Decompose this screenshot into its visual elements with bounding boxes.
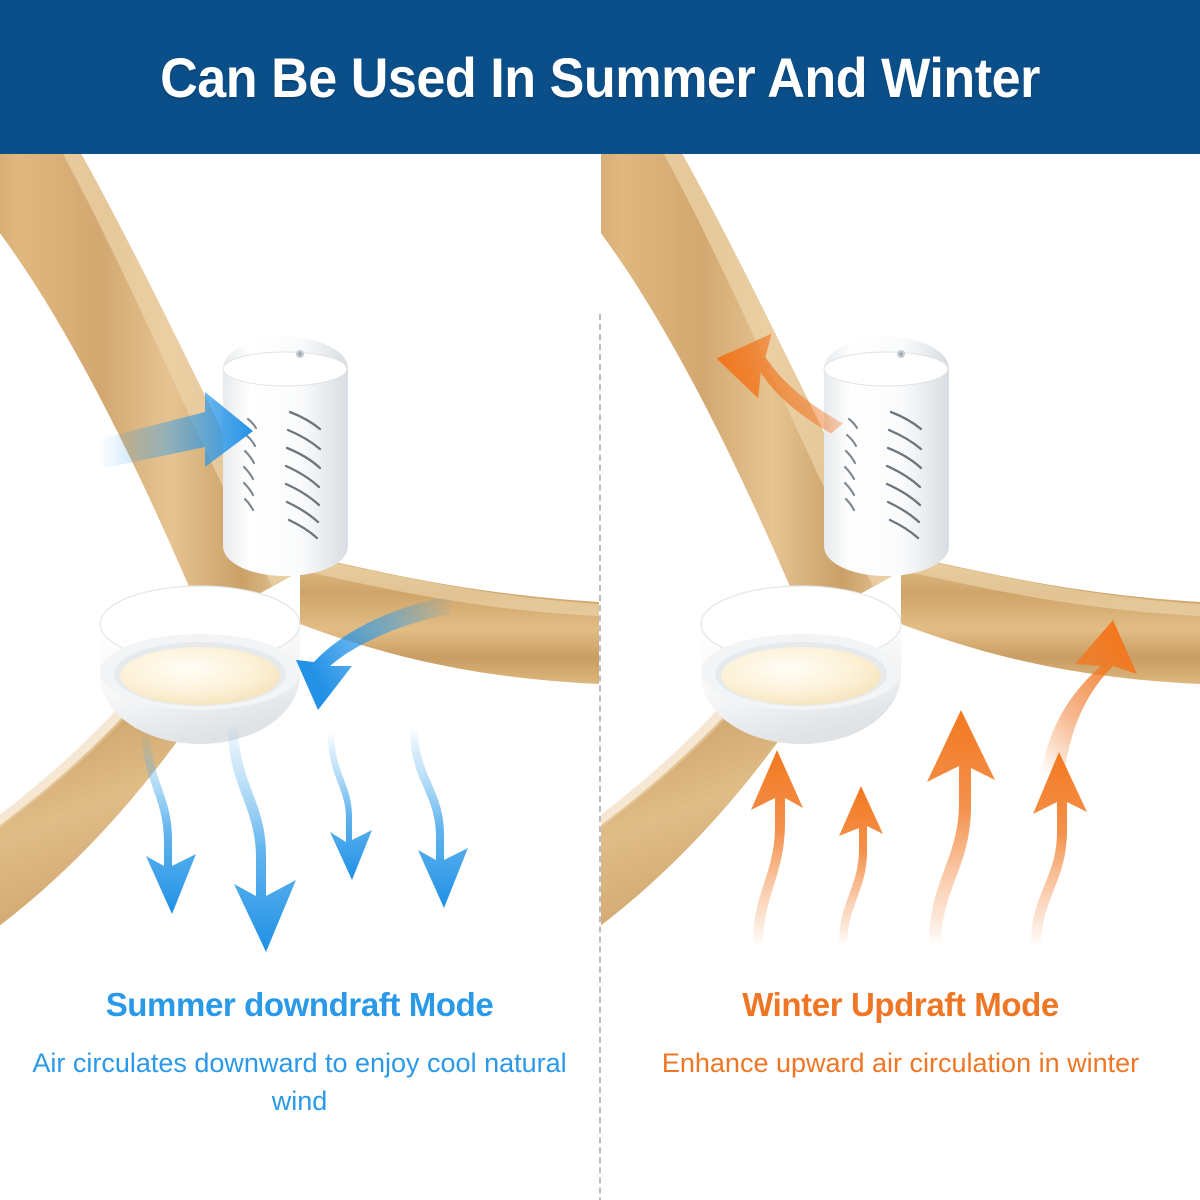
motor-housing [223,337,348,576]
airflow-arrow-2 [839,786,883,946]
airflow-arrows-down [142,724,468,952]
airflow-arrows-up [751,710,1087,946]
comparison-panels: Summer downdraft Mode Air circulates dow… [0,154,1200,1200]
airflow-arrow-1 [751,750,803,946]
winter-mode-description: Enhance upward air circulation in winter [629,1045,1172,1082]
airflow-arrow-4 [410,728,468,908]
winter-mode-title: Winter Updraft Mode [629,984,1172,1025]
panel-divider [599,314,601,1200]
summer-mode-description: Air circulates downward to enjoy cool na… [28,1045,571,1120]
airflow-arrow-4 [1031,752,1087,946]
header-banner: Can Be Used In Summer And Winter [0,0,1200,154]
led-light-panel [120,647,280,705]
winter-caption: Winter Updraft Mode Enhance upward air c… [601,984,1200,1083]
airflow-arrow-2 [228,724,296,952]
product-feature-image: Can Be Used In Summer And Winter [0,0,1200,1200]
panel-winter: Winter Updraft Mode Enhance upward air c… [601,154,1200,1200]
airflow-arrow-3 [927,710,995,946]
fan-blade-right [901,554,1200,684]
light-fixture [100,586,300,744]
summer-mode-title: Summer downdraft Mode [28,984,571,1025]
winter-fan-illustration [601,154,1200,964]
airflow-arrow-1 [142,729,196,914]
led-light-panel [721,647,881,705]
page-title: Can Be Used In Summer And Winter [160,45,1040,110]
fan-blade-right [300,554,599,684]
airflow-arrow-3 [328,732,372,880]
light-fixture [701,586,901,744]
summer-fan-illustration [0,154,599,964]
panel-summer: Summer downdraft Mode Air circulates dow… [0,154,599,1200]
motor-housing [824,337,949,576]
summer-caption: Summer downdraft Mode Air circulates dow… [0,984,599,1120]
